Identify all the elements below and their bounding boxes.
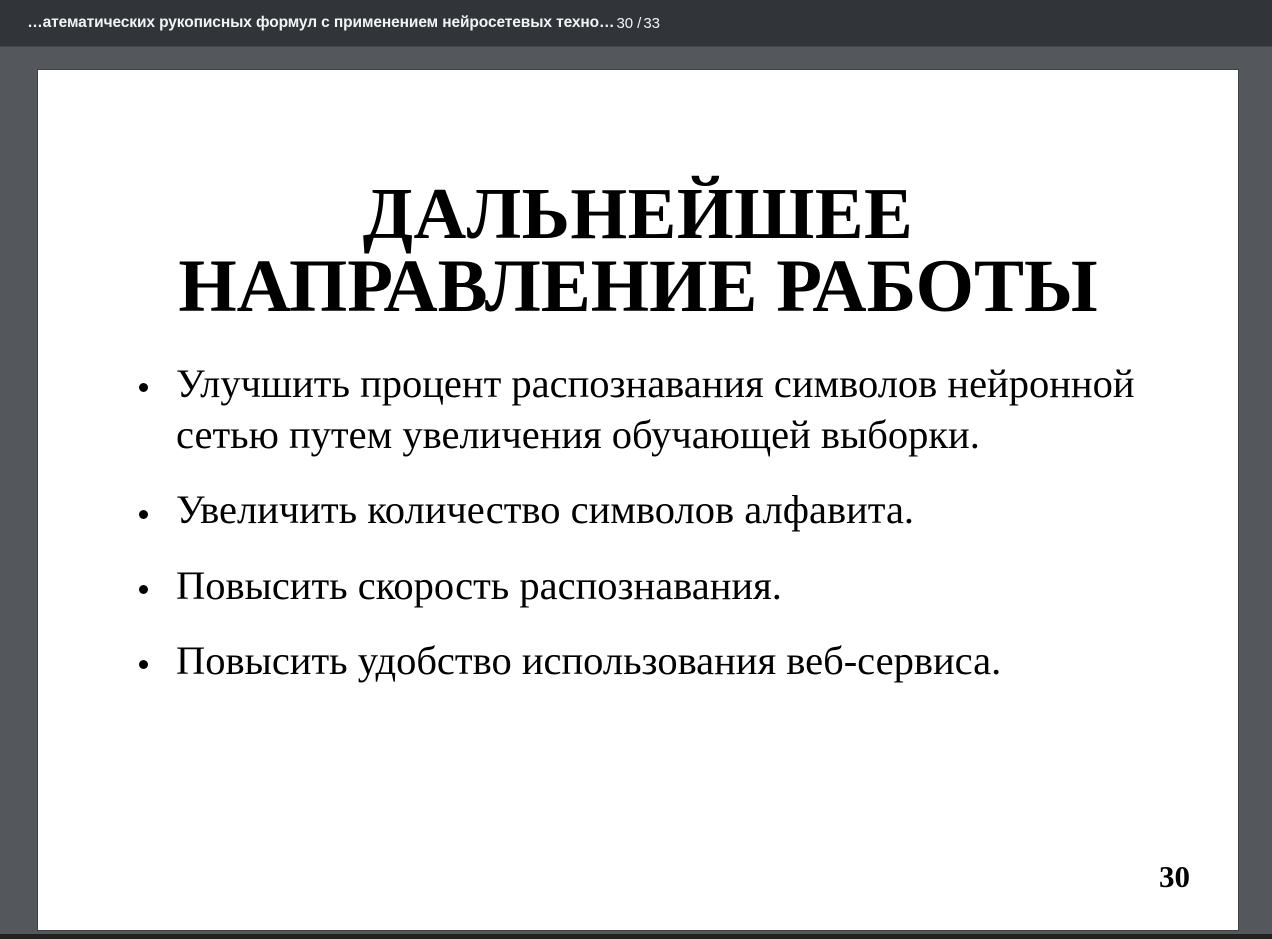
- bottom-edge-strip: [0, 934, 1272, 939]
- list-item: Повысить удобство использования веб-серв…: [133, 635, 1163, 686]
- slide-page: ДАЛЬНЕЙШЕЕ НАПРАВЛЕНИЕ РАБОТЫ Улучшить п…: [38, 70, 1238, 930]
- current-page-number: 30: [616, 15, 633, 32]
- list-item-text: Повысить скорость распознавания.: [176, 560, 1163, 611]
- slide-bullet-list: Улучшить процент распознавания символов …: [133, 358, 1163, 686]
- document-title: …атематических рукописных формул с приме…: [27, 15, 614, 31]
- bullet-dot-icon: [139, 585, 148, 594]
- total-page-count: 33: [643, 15, 660, 32]
- document-title-text: …атематических рукописных формул с приме…: [27, 15, 614, 31]
- slide-heading-line-1: ДАЛЬНЕЙШЕЕ: [98, 178, 1178, 250]
- slide-heading-line-2: НАПРАВЛЕНИЕ РАБОТЫ: [98, 250, 1178, 324]
- slide-number: 30: [1159, 861, 1190, 892]
- page-counter[interactable]: 30/33: [616, 16, 660, 31]
- viewer-toolbar: …атематических рукописных формул с приме…: [0, 0, 1272, 47]
- slide-canvas[interactable]: ДАЛЬНЕЙШЕЕ НАПРАВЛЕНИЕ РАБОТЫ Улучшить п…: [0, 48, 1272, 939]
- list-item: Улучшить процент распознавания символов …: [133, 358, 1163, 460]
- list-item-text: Увеличить количество символов алфавита.: [176, 484, 1163, 535]
- bullet-dot-icon: [139, 660, 148, 669]
- list-item: Повысить скорость распознавания.: [133, 560, 1163, 611]
- bullet-dot-icon: [139, 383, 148, 392]
- bullet-dot-icon: [139, 510, 148, 519]
- list-item-text: Повысить удобство использования веб-серв…: [176, 635, 1163, 686]
- list-item: Увеличить количество символов алфавита.: [133, 484, 1163, 535]
- presentation-viewer: …атематических рукописных формул с приме…: [0, 0, 1272, 939]
- list-item-text: Улучшить процент распознавания символов …: [176, 358, 1163, 460]
- slide-heading: ДАЛЬНЕЙШЕЕ НАПРАВЛЕНИЕ РАБОТЫ: [98, 178, 1178, 325]
- page-separator: /: [637, 15, 641, 32]
